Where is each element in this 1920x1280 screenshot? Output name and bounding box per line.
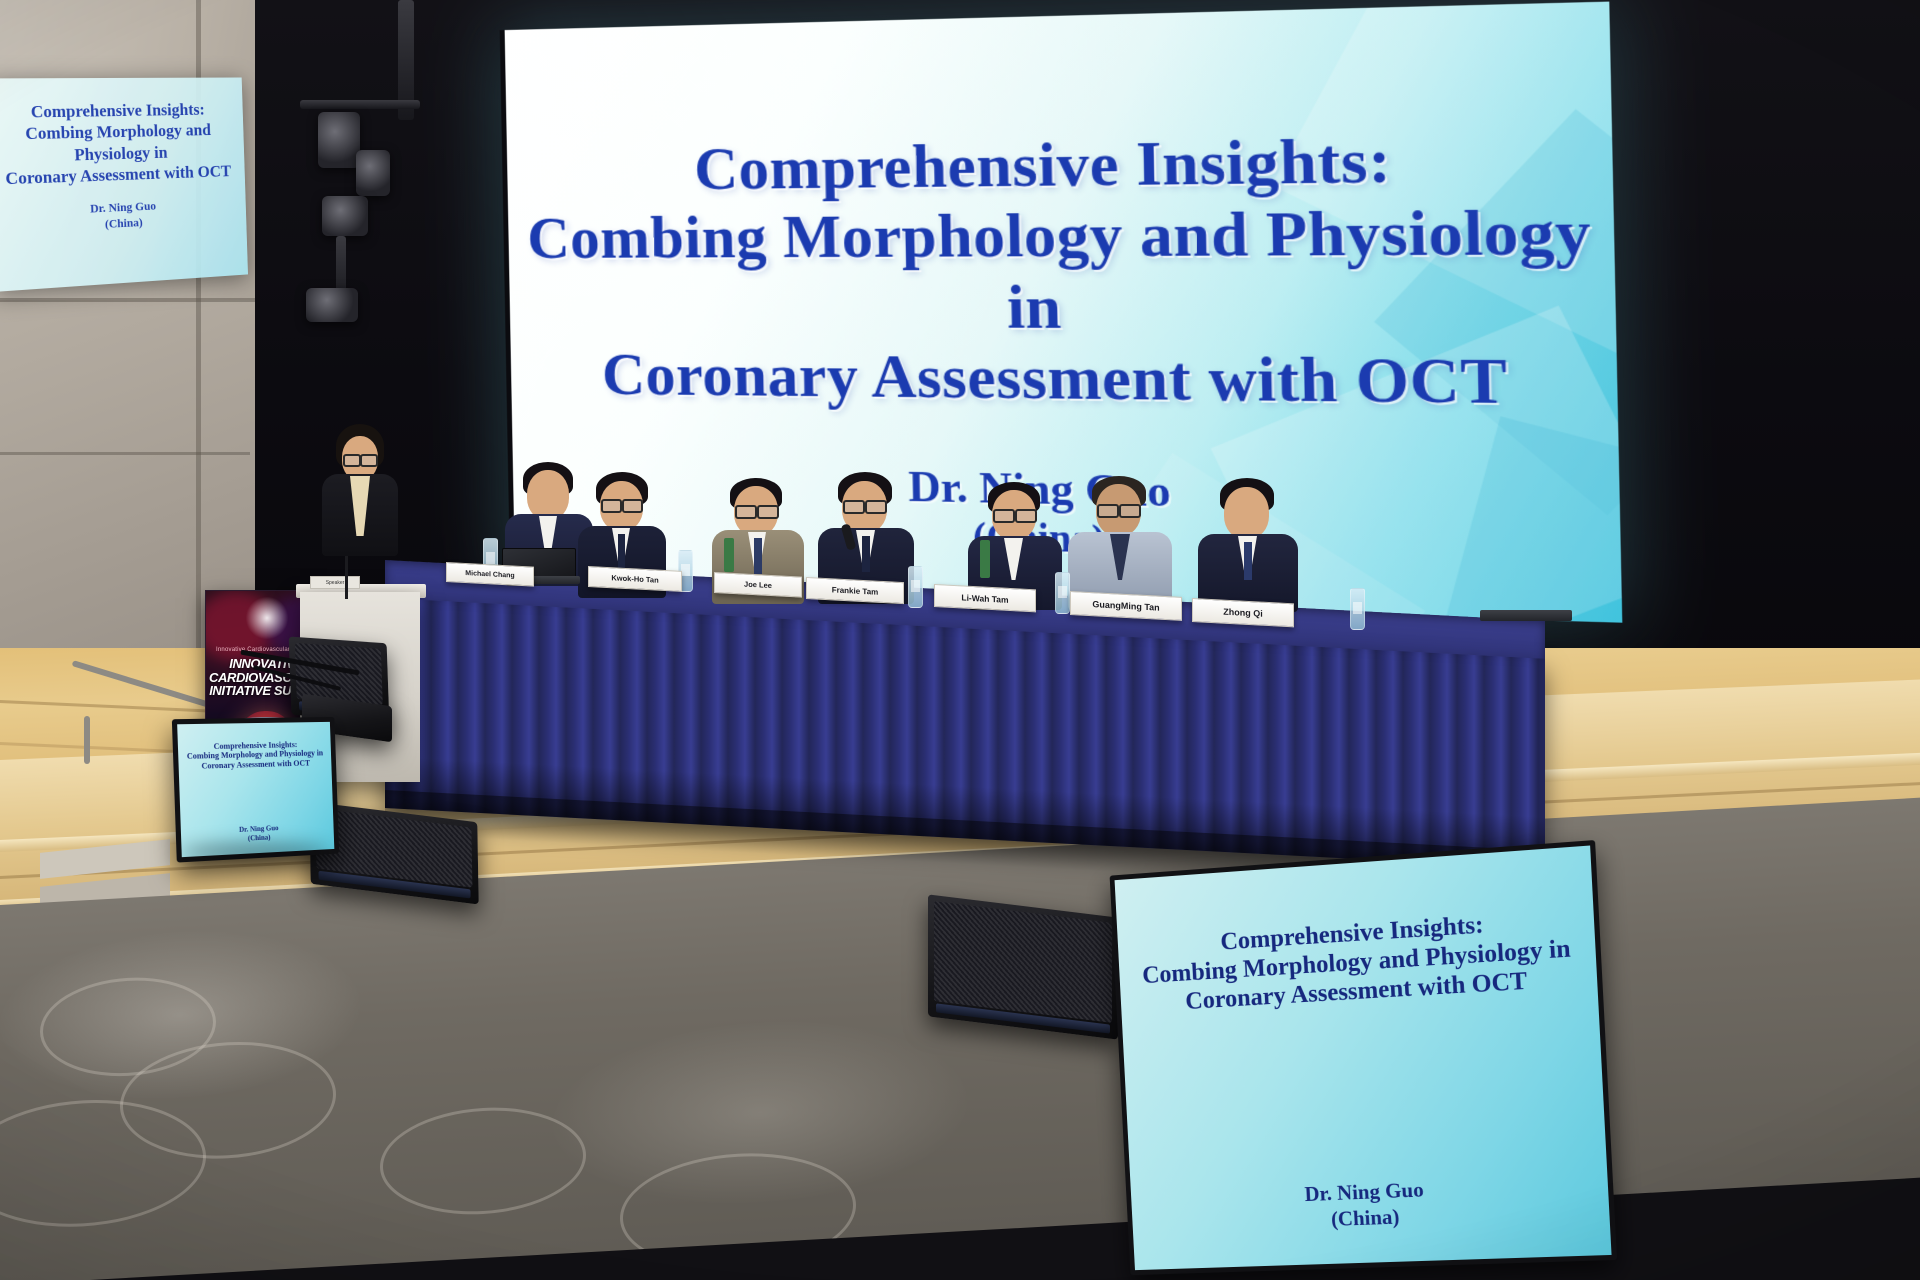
stage-light — [322, 196, 368, 236]
panelist-7 — [1198, 478, 1298, 606]
glasses-icon — [1119, 504, 1141, 518]
necktie — [862, 536, 870, 572]
carpet-pattern — [620, 1147, 856, 1276]
necktie — [618, 534, 625, 568]
podium-microphone-stand — [345, 555, 348, 599]
monitor-screen: Comprehensive Insights: Combing Morpholo… — [1115, 846, 1612, 1271]
laptop-2[interactable] — [1480, 600, 1566, 630]
necktie — [754, 538, 762, 574]
glasses-icon — [1015, 509, 1037, 523]
truss-horizontal — [300, 100, 420, 109]
side-screen-title: Comprehensive Insights: Combing Morpholo… — [0, 99, 245, 190]
stair-post — [84, 716, 90, 764]
side-screen-presenter: Dr. Ning Guo (China) — [0, 195, 246, 238]
glasses-icon — [865, 500, 887, 514]
lanyard — [980, 540, 990, 578]
monitor-shadow — [180, 844, 330, 862]
stage-light — [356, 150, 390, 196]
panelist-6 — [1068, 476, 1172, 606]
wall-seam — [0, 298, 272, 302]
glasses-icon — [1097, 504, 1119, 518]
glasses-icon — [843, 500, 865, 514]
glasses-icon — [360, 454, 378, 467]
slide-title: Comprehensive Insights: Combing Morpholo… — [507, 121, 1618, 419]
head — [527, 470, 569, 520]
monitor-title: Comprehensive Insights: Combing Morpholo… — [184, 740, 325, 771]
monitor-presenter: Dr. Ning Guo (China) — [1149, 1169, 1590, 1238]
stage-light — [318, 112, 360, 168]
carpet-pattern — [380, 1102, 586, 1220]
side-projection-screen: Comprehensive Insights: Combing Morpholo… — [0, 78, 248, 292]
lanyard — [724, 538, 734, 572]
glasses-icon — [993, 509, 1015, 523]
glasses-icon — [343, 454, 361, 467]
conference-hall-scene: Comprehensive Insights: Combing Morpholo… — [0, 0, 1920, 1280]
stage-light — [306, 288, 358, 322]
glasses-icon — [757, 505, 779, 519]
wall-seam — [0, 452, 250, 455]
podium-placard: Speaker — [310, 576, 360, 589]
banner-snowflake-icon — [246, 597, 288, 639]
monitor-screen: Comprehensive Insights: Combing Morpholo… — [177, 722, 334, 857]
speaker-presenter — [322, 424, 398, 554]
glasses-icon — [601, 499, 622, 513]
glasses-icon — [735, 505, 757, 519]
stage-monitor-speaker-3 — [928, 894, 1118, 1039]
water-bottle[interactable] — [908, 566, 923, 608]
monitor-title: Comprehensive Insights: Combing Morpholo… — [1136, 904, 1578, 1018]
head — [1224, 487, 1269, 539]
confidence-monitor-left: Comprehensive Insights: Combing Morpholo… — [172, 717, 339, 863]
monitor-presenter: Dr. Ning Guo (China) — [187, 822, 328, 846]
water-bottle[interactable] — [1350, 588, 1365, 630]
glasses-icon — [622, 499, 643, 513]
confidence-monitor-right: Comprehensive Insights: Combing Morpholo… — [1110, 840, 1617, 1275]
water-bottle[interactable] — [1055, 572, 1070, 614]
necktie — [1244, 542, 1252, 580]
